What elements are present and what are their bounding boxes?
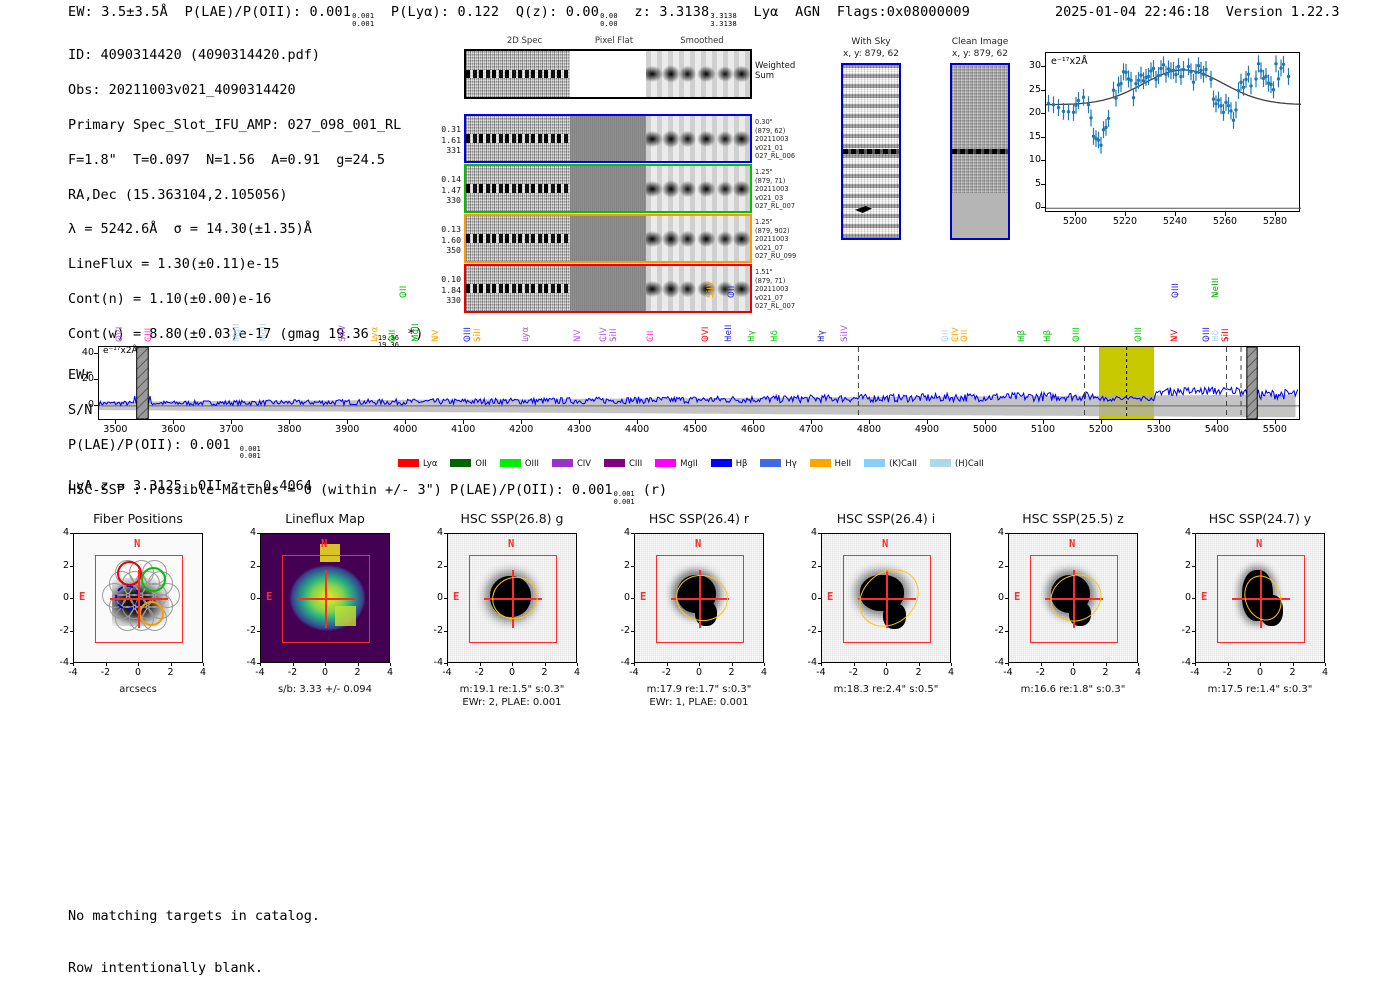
xtick-mark	[405, 420, 406, 424]
clean-image-title: Clean Image	[930, 36, 1030, 48]
ytick-mark	[94, 353, 98, 354]
header-plae-value: 0.001	[310, 4, 352, 20]
panel-ytick: -4	[238, 657, 256, 668]
legend-item: Lyα	[398, 458, 437, 468]
legend-swatch	[864, 459, 885, 467]
panel-ytick: -4	[425, 657, 443, 668]
emission-line-label: Hβ	[1017, 330, 1027, 342]
header-qz-dn: 0.00	[600, 21, 618, 29]
xtick-mark	[203, 663, 204, 666]
legend-swatch	[552, 459, 573, 467]
header-plya: P(Lyα): 0.122	[391, 4, 499, 20]
emission-line-label: Lyα	[370, 327, 380, 342]
emission-line-label: OVI	[115, 326, 125, 342]
panel-xtick: -2	[465, 667, 495, 678]
line-profile-ytick: 30	[1023, 60, 1041, 71]
legend-item: MgII	[655, 458, 697, 468]
ytick-mark	[94, 379, 98, 380]
panel-title: Lineflux Map	[226, 511, 424, 526]
legend-item: (H)CaII	[930, 458, 984, 468]
ytick-mark	[70, 663, 73, 664]
with-sky-image[interactable]	[841, 63, 901, 240]
north-marker: N	[508, 538, 514, 550]
emission-line-label: CIV	[599, 327, 609, 342]
panel-overlay: NE	[635, 534, 763, 662]
spectrum-xtick: 5000	[965, 424, 1005, 435]
xtick-mark	[1041, 663, 1042, 666]
hsc-header-band: (r)	[643, 482, 667, 498]
line-profile-xtick: 5220	[1107, 216, 1143, 227]
xtick-mark	[106, 663, 107, 666]
panel-image[interactable]: NE	[1195, 533, 1325, 663]
header-z-value: 3.3138	[659, 4, 709, 20]
legend-swatch	[450, 459, 471, 467]
xtick-mark	[1325, 663, 1326, 666]
crosshair-horizontal	[297, 598, 354, 600]
fiber-meta-line: 0.30"	[755, 118, 815, 127]
legend-label: HeII	[835, 458, 851, 468]
ytick-mark	[257, 663, 260, 664]
panel-overlay: NE	[1196, 534, 1324, 662]
panel-ytick: 4	[425, 527, 443, 538]
header-ew: EW: 3.5±3.5Å	[68, 4, 168, 20]
xtick-mark	[173, 420, 174, 424]
xtick-mark	[390, 663, 391, 666]
fiber-pixelflat	[570, 216, 647, 261]
fiber-left-value: 1.60	[427, 235, 461, 246]
fiber-2dspec	[466, 266, 570, 311]
ytick-mark	[1192, 566, 1195, 567]
panel-xtick: -2	[652, 667, 682, 678]
legend-item: Hγ	[760, 458, 796, 468]
crosshair-horizontal	[110, 598, 167, 600]
info-seeing-params: F=1.8" T=0.097 N=1.56 A=0.91 g=24.5	[68, 152, 423, 169]
xtick-mark	[637, 420, 638, 424]
ytick-mark	[818, 598, 821, 599]
ytick-mark	[1005, 533, 1008, 534]
fiber-meta-line: 027_RU_099	[755, 252, 815, 261]
header-datetime-version: 2025-01-04 22:46:18 Version 1.22.3	[1055, 4, 1340, 20]
spectrum-annotation: e⁻¹⁷x2Å	[103, 346, 138, 356]
emission-line-label: NeIII	[1211, 278, 1221, 298]
panel-title: Fiber Positions	[39, 511, 237, 526]
fiber-meta-line: 20211003	[755, 285, 815, 294]
xtick-mark	[1195, 663, 1196, 666]
fiber-smoothed	[646, 166, 750, 211]
xtick-mark	[919, 663, 920, 666]
panel-caption-secondary: EWr: 1, PLAE: 0.001	[600, 696, 798, 709]
ytick-mark	[1041, 137, 1045, 138]
panel-ytick: 0	[425, 592, 443, 603]
panel-title: HSC SSP(25.5) z	[974, 511, 1172, 526]
panel-title: HSC SSP(26.8) g	[413, 511, 611, 526]
emission-line-label: CII	[646, 330, 656, 342]
footer-note: No matching targets in catalog. Row inte…	[68, 873, 320, 995]
legend-swatch	[810, 459, 831, 467]
xtick-mark	[699, 663, 700, 666]
legend-label: Lyα	[423, 458, 437, 468]
xtick-mark	[927, 420, 928, 424]
fiber-2dspec	[466, 116, 570, 161]
panel-xtick: -4	[58, 667, 88, 678]
xtick-mark	[73, 663, 74, 666]
ytick-mark	[70, 533, 73, 534]
header-z-label: z:	[634, 4, 651, 20]
panel-image[interactable]: NE	[260, 533, 390, 663]
ytick-mark	[70, 598, 73, 599]
legend-item: CIII	[604, 458, 642, 468]
legend-item: (K)CaII	[864, 458, 917, 468]
footer-line2: Row intentionally blank.	[68, 960, 320, 977]
fiber-pixelflat	[570, 266, 647, 311]
emission-line-label: OII	[388, 330, 398, 342]
spectrum-xtick: 5200	[1081, 424, 1121, 435]
header-datetime: 2025-01-04 22:46:18	[1055, 4, 1209, 20]
col-header-pixelflat: Pixel Flat	[574, 36, 654, 46]
panel-caption-primary: arcsecs	[39, 683, 237, 696]
weighted-sum-2dspec	[466, 51, 570, 97]
fiber-meta-line: 20211003	[755, 135, 815, 144]
header-plae-dn: 0.001	[352, 21, 374, 29]
panel-xtick: 4	[749, 667, 779, 678]
xtick-mark	[579, 420, 580, 424]
ytick-mark	[631, 663, 634, 664]
emission-line-label: Hγ	[747, 330, 757, 342]
panel-overlay: NE	[822, 534, 950, 662]
panel-xtick: 2	[343, 667, 373, 678]
ytick-mark	[1005, 566, 1008, 567]
xtick-mark	[1260, 663, 1261, 666]
ytick-mark	[70, 631, 73, 632]
east-marker: E	[266, 591, 272, 603]
fiber-left-value: 331	[427, 145, 461, 156]
fiber-meta-line: 1.25"	[755, 168, 815, 177]
panel-image[interactable]: NE	[1008, 533, 1138, 663]
spectrum-xtick: 4400	[617, 424, 657, 435]
xtick-mark	[811, 420, 812, 424]
panel-image[interactable]: NE	[447, 533, 577, 663]
fiber-meta-line: v021_03	[755, 194, 815, 203]
info-plae-dn2: 0.001	[240, 453, 261, 461]
spectrum-xtick: 3700	[211, 424, 251, 435]
fiber-left-value: 1.47	[427, 185, 461, 196]
header-summary-line: EW: 3.5±3.5Å P(LAE)/P(OII): 0.0010.0010.…	[68, 4, 970, 28]
weighted-sum-label: Weighted Sum	[750, 61, 795, 81]
emission-line-label: NV	[431, 329, 441, 342]
emission-line-label: OII	[941, 330, 951, 342]
fiber-strip[interactable]: 0.311.613310.30"(879, 62)20211003v021_01…	[464, 114, 752, 163]
emission-line-label: NV	[573, 329, 583, 342]
xtick-mark	[325, 663, 326, 666]
panel-ytick: -2	[986, 625, 1004, 636]
ytick-mark	[257, 631, 260, 632]
ytick-mark	[1192, 598, 1195, 599]
panel-image[interactable]: NE	[821, 533, 951, 663]
legend-swatch	[500, 459, 521, 467]
panel-ytick: 0	[799, 592, 817, 603]
panel-ytick: 4	[986, 527, 1004, 538]
ytick-mark	[1041, 90, 1045, 91]
line-profile-ytick: 10	[1023, 154, 1041, 165]
xtick-mark	[545, 663, 546, 666]
spectrum-xtick: 4200	[501, 424, 541, 435]
clean-image-subtitle: x, y: 879, 62	[930, 48, 1030, 60]
emission-line-label: Hγ	[817, 330, 827, 342]
xtick-mark	[869, 420, 870, 424]
xtick-mark	[1073, 663, 1074, 666]
panel-ytick: -2	[1173, 625, 1191, 636]
ytick-mark	[1005, 631, 1008, 632]
emission-line-label: OII	[960, 330, 970, 342]
panel-xtick: -4	[806, 667, 836, 678]
xtick-mark	[293, 663, 294, 666]
fiber-row-left-values: 0.311.61331	[427, 124, 466, 156]
east-marker: E	[1201, 591, 1207, 603]
fiber-meta-line: 027_RL_007	[755, 302, 815, 311]
panel-xtick: 4	[562, 667, 592, 678]
fiber-row-right-meta: 1.51"(879, 71)20211003v021_07027_RL_007	[750, 268, 815, 311]
line-profile-xtick: 5260	[1207, 216, 1243, 227]
panel-image[interactable]: NE	[634, 533, 764, 663]
spectrum-xtick: 3900	[327, 424, 367, 435]
east-marker: E	[79, 591, 85, 603]
panel-ytick: -2	[799, 625, 817, 636]
weighted-sum-line2: Sum	[755, 71, 795, 81]
spectrum-xtick: 5500	[1255, 424, 1295, 435]
line-profile-ytick: 0	[1023, 201, 1041, 212]
panel-ytick: 0	[612, 592, 630, 603]
panel-ytick: 2	[238, 560, 256, 571]
panel-xtick: -4	[619, 667, 649, 678]
xtick-mark	[358, 663, 359, 666]
xtick-mark	[854, 663, 855, 666]
fiber-row-left-values: 0.141.47330	[427, 174, 466, 206]
info-cont-n: Cont(n) = 1.10(±0.00)e-16	[68, 291, 423, 308]
spectrum-ytick: 20	[74, 373, 94, 384]
hsc-header-text: HSC-SSP : Possible Matches = 0 (within +…	[68, 482, 613, 498]
ytick-mark	[444, 566, 447, 567]
fiber-strip[interactable]: 0.141.473301.25"(879, 71)20211003v021_03…	[464, 164, 752, 213]
xtick-mark	[1106, 663, 1107, 666]
spectrum-xtick: 4000	[385, 424, 425, 435]
panel-ytick: 0	[986, 592, 1004, 603]
panel-xtick: 2	[1278, 667, 1308, 678]
xtick-mark	[764, 663, 765, 666]
panel-image[interactable]: NE	[73, 533, 203, 663]
line-profile-ytick: 5	[1023, 178, 1041, 189]
xtick-mark	[732, 663, 733, 666]
panel-ytick: -4	[986, 657, 1004, 668]
panel-ytick: 4	[51, 527, 69, 538]
fiber-left-value: 0.13	[427, 224, 461, 235]
xtick-mark	[480, 663, 481, 666]
panel-xtick: 4	[375, 667, 405, 678]
fiber-strip[interactable]: 0.131.603501.25"(879, 902)20211003v021_0…	[464, 214, 752, 263]
ytick-mark	[444, 663, 447, 664]
panel-ytick: 4	[238, 527, 256, 538]
ytick-mark	[631, 566, 634, 567]
col-header-2dspec: 2D Spec	[472, 36, 577, 46]
fiber-row-right-meta: 1.25"(879, 71)20211003v021_03027_RL_007	[750, 168, 815, 211]
xtick-mark	[447, 663, 448, 666]
full-spectrum-axes[interactable]: e⁻¹⁷x2Å	[98, 346, 1300, 420]
panel-xtick: 0	[1058, 667, 1088, 678]
panel-ytick: 2	[425, 560, 443, 571]
panel-ytick: 4	[612, 527, 630, 538]
ytick-mark	[257, 533, 260, 534]
panel-xtick: -2	[278, 667, 308, 678]
panel-ytick: -2	[425, 625, 443, 636]
legend-swatch	[604, 459, 625, 467]
panel-title: HSC SSP(26.4) i	[787, 511, 985, 526]
header-agn-tag: AGN	[795, 4, 820, 20]
xtick-mark	[231, 420, 232, 424]
panel-xtick: -4	[1180, 667, 1210, 678]
emission-line-label: NV	[1170, 329, 1180, 342]
xtick-mark	[1043, 420, 1044, 424]
info-wavelength-sigma: λ = 5242.6Å σ = 14.30(±1.35)Å	[68, 221, 423, 238]
xtick-mark	[695, 420, 696, 424]
emission-line-label: Hδ	[1211, 330, 1221, 342]
xtick-mark	[951, 663, 952, 666]
fiber-2dspec	[466, 216, 570, 261]
panel-xtick: 0	[684, 667, 714, 678]
ytick-mark	[257, 598, 260, 599]
fiber-meta-line: (879, 62)	[755, 127, 815, 136]
panel-xtick: 2	[530, 667, 560, 678]
ytick-mark	[257, 566, 260, 567]
with-sky-subtitle: x, y: 879, 62	[826, 48, 916, 60]
panel-xtick: -2	[91, 667, 121, 678]
emission-line-label: MgII	[232, 323, 242, 342]
panel-caption-secondary: EWr: 2, PLAE: 0.001	[413, 696, 611, 709]
ytick-mark	[1041, 113, 1045, 114]
fiber-meta-line: (879, 71)	[755, 277, 815, 286]
panel-title: HSC SSP(24.7) y	[1161, 511, 1359, 526]
legend-swatch	[655, 459, 676, 467]
fiber-row-right-meta: 0.30"(879, 62)20211003v021_01027_RL_006	[750, 118, 815, 161]
spectrum-ytick: 0	[74, 399, 94, 410]
north-marker: N	[134, 538, 140, 550]
line-profile-axes[interactable]: e⁻¹⁷x2Å	[1045, 52, 1300, 212]
east-marker: E	[640, 591, 646, 603]
ytick-mark	[1041, 207, 1045, 208]
ytick-mark	[444, 533, 447, 534]
header-classification: Lyα	[754, 4, 779, 20]
xtick-mark	[1225, 212, 1226, 216]
panel-xtick: 2	[717, 667, 747, 678]
xtick-mark	[1125, 212, 1126, 216]
xtick-mark	[521, 420, 522, 424]
hsc-header-sub: 0.001	[614, 499, 635, 507]
spectrum-xtick: 4100	[443, 424, 483, 435]
ytick-mark	[631, 631, 634, 632]
xtick-mark	[667, 663, 668, 666]
fiber-meta-line: v021_01	[755, 144, 815, 153]
ytick-mark	[1041, 160, 1045, 161]
xtick-mark	[1008, 663, 1009, 666]
emission-line-label: OIII	[1072, 327, 1082, 342]
fiber-row-right-meta: 1.25"(879, 902)20211003v021_07027_RU_099	[750, 218, 815, 261]
panel-ytick: 0	[1173, 592, 1191, 603]
fiber-left-value: 0.31	[427, 124, 461, 135]
panel-caption-primary: m:16.6 re:1.8" s:0.3"	[974, 683, 1172, 696]
spectrum-xtick: 3800	[269, 424, 309, 435]
panel-ytick: -4	[612, 657, 630, 668]
panel-ytick: -4	[799, 657, 817, 668]
legend-item: HeII	[810, 458, 851, 468]
panel-ytick: 4	[1173, 527, 1191, 538]
spectrum-xtick: 4300	[559, 424, 599, 435]
line-profile-xtick: 5200	[1057, 216, 1093, 227]
xtick-mark	[115, 420, 116, 424]
panel-xtick: 0	[123, 667, 153, 678]
legend-item: OIII	[500, 458, 539, 468]
spectrum-xtick: 4600	[733, 424, 773, 435]
emission-line-label: Lyα	[521, 327, 531, 342]
fiber-smoothed	[646, 116, 750, 161]
weighted-sum-pixelflat	[570, 51, 647, 97]
fiber-2dspec	[466, 166, 570, 211]
spectrum-xtick: 4500	[675, 424, 715, 435]
line-profile-ytick: 25	[1023, 84, 1041, 95]
fiber-meta-line: 027_RL_007	[755, 202, 815, 211]
legend-label: MgII	[680, 458, 697, 468]
emission-line-label: OIII	[1171, 283, 1181, 298]
emission-line-label: HeII	[724, 324, 734, 342]
panel-ytick: 2	[799, 560, 817, 571]
ytick-mark	[1041, 66, 1045, 67]
panel-xtick: -2	[839, 667, 869, 678]
header-plae-label: P(LAE)/P(OII):	[185, 4, 302, 20]
xtick-mark	[634, 663, 635, 666]
panel-xtick: -2	[1213, 667, 1243, 678]
emission-line-label: OII	[399, 286, 409, 298]
weighted-sum-strip: Weighted Sum	[464, 49, 752, 99]
line-profile-xtick: 5280	[1257, 216, 1293, 227]
spectrum-xtick: 3600	[153, 424, 193, 435]
legend-label: CIII	[629, 458, 642, 468]
emission-line-label: SiIV	[706, 281, 716, 298]
panel-xtick: 0	[497, 667, 527, 678]
clean-image[interactable]	[950, 63, 1010, 240]
fiber-meta-line: 20211003	[755, 185, 815, 194]
header-flags: Flags:0x08000009	[837, 4, 970, 20]
panel-overlay: NE	[1009, 534, 1137, 662]
legend-item: Hβ	[711, 458, 748, 468]
spectrum-xtick: 4800	[849, 424, 889, 435]
xtick-mark	[1159, 420, 1160, 424]
info-primary-spec-slot: Primary Spec_Slot_IFU_AMP: 027_098_001_R…	[68, 117, 423, 134]
xtick-mark	[512, 663, 513, 666]
panel-xtick: -2	[1026, 667, 1056, 678]
spectrum-xtick: 3500	[95, 424, 135, 435]
panel-xtick: -4	[993, 667, 1023, 678]
legend-swatch	[930, 459, 951, 467]
header-qz-value: 0.00	[566, 4, 599, 20]
emission-line-label: CIII	[144, 328, 154, 342]
xtick-mark	[1217, 420, 1218, 424]
emission-line-label: SiIV	[338, 325, 348, 342]
ytick-mark	[631, 533, 634, 534]
fiber-left-value: 330	[427, 295, 461, 306]
spectrum-xtick: 5100	[1023, 424, 1063, 435]
emission-line-label: OII	[727, 286, 737, 298]
legend-swatch	[711, 459, 732, 467]
panel-xtick: 2	[156, 667, 186, 678]
panel-xtick: -4	[245, 667, 275, 678]
fiber-meta-line: 1.25"	[755, 218, 815, 227]
